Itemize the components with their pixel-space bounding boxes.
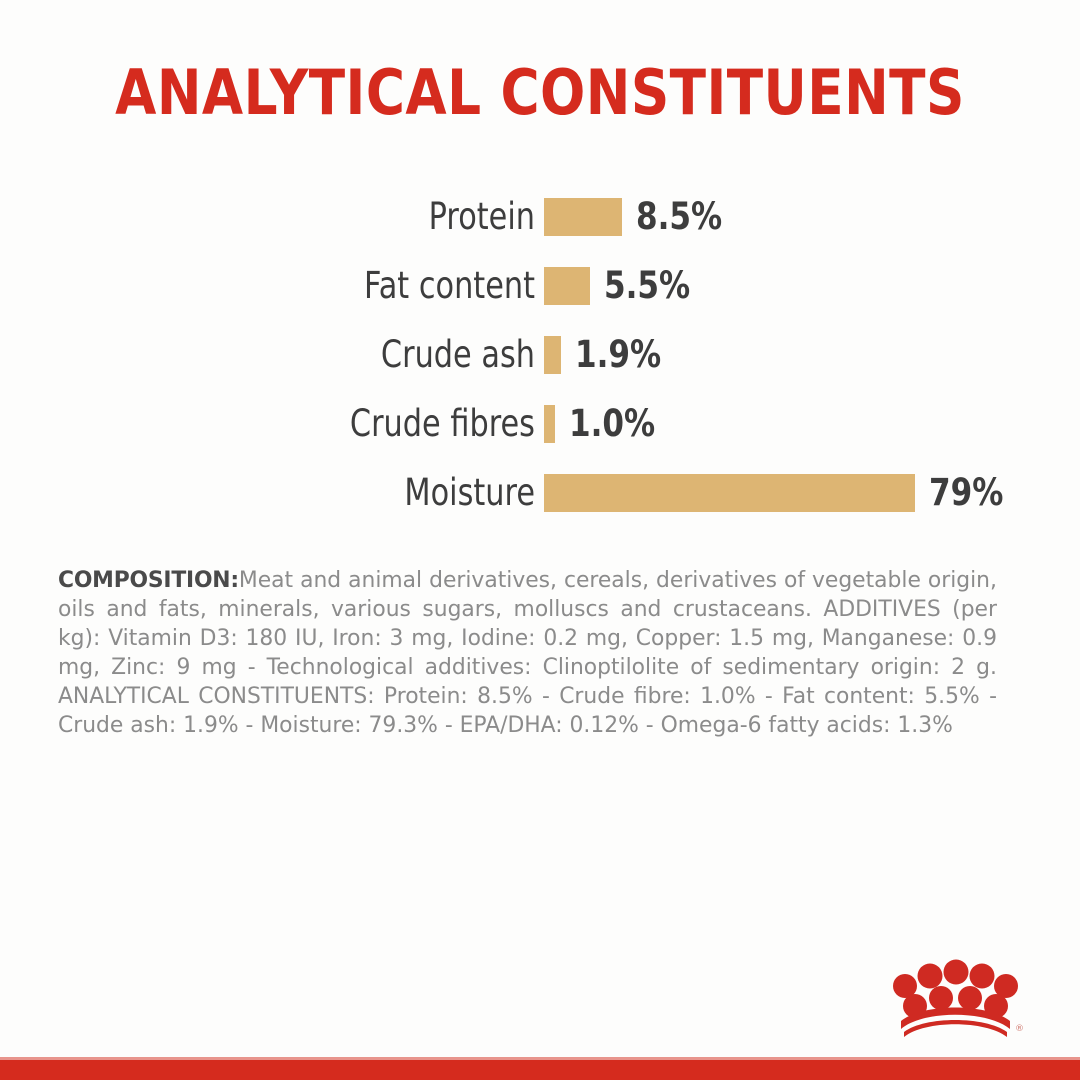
row-value-fat-content: 5.5% bbox=[604, 266, 690, 306]
chart-row: Moisture 79% bbox=[0, 458, 1080, 527]
row-label-fat-content: Fat content bbox=[191, 266, 535, 306]
bar-crude-fibres bbox=[544, 405, 555, 443]
bar-fat-content bbox=[544, 267, 590, 305]
row-value-crude-fibres: 1.0% bbox=[569, 404, 655, 444]
row-label-crude-fibres: Crude fibres bbox=[191, 404, 535, 444]
bottom-red-band bbox=[0, 1060, 1080, 1080]
bar-moisture bbox=[544, 474, 915, 512]
row-value-moisture: 79% bbox=[929, 473, 1003, 513]
row-value-protein: 8.5% bbox=[636, 197, 722, 237]
row-bar-group-crude-ash: 1.9% bbox=[544, 320, 678, 389]
royal-canin-crown-logo: ® bbox=[885, 957, 1025, 1039]
composition-block: COMPOSITION:Meat and animal derivatives,… bbox=[58, 566, 997, 740]
row-bar-group-crude-fibres: 1.0% bbox=[544, 389, 672, 458]
row-bar-group-protein: 8.5% bbox=[544, 182, 739, 251]
row-label-protein: Protein bbox=[191, 197, 535, 237]
constituents-bar-chart: Protein 8.5% Fat content 5.5% Crude ash … bbox=[0, 182, 1080, 527]
chart-row: Crude fibres 1.0% bbox=[0, 389, 1080, 458]
row-label-crude-ash: Crude ash bbox=[191, 335, 535, 375]
chart-row: Crude ash 1.9% bbox=[0, 320, 1080, 389]
bar-protein bbox=[544, 198, 622, 236]
row-value-crude-ash: 1.9% bbox=[575, 335, 661, 375]
analytical-constituents-panel: ANALYTICAL CONSTITUENTS Protein 8.5% Fat… bbox=[0, 0, 1080, 1080]
bar-crude-ash bbox=[544, 336, 561, 374]
page-title: ANALYTICAL CONSTITUENTS bbox=[76, 58, 1005, 128]
chart-row: Protein 8.5% bbox=[0, 182, 1080, 251]
composition-label: COMPOSITION: bbox=[58, 567, 239, 593]
row-bar-group-moisture: 79% bbox=[544, 458, 1018, 527]
registered-mark-icon: ® bbox=[1015, 1024, 1024, 1034]
chart-row: Fat content 5.5% bbox=[0, 251, 1080, 320]
row-label-moisture: Moisture bbox=[191, 473, 535, 513]
row-bar-group-fat-content: 5.5% bbox=[544, 251, 707, 320]
